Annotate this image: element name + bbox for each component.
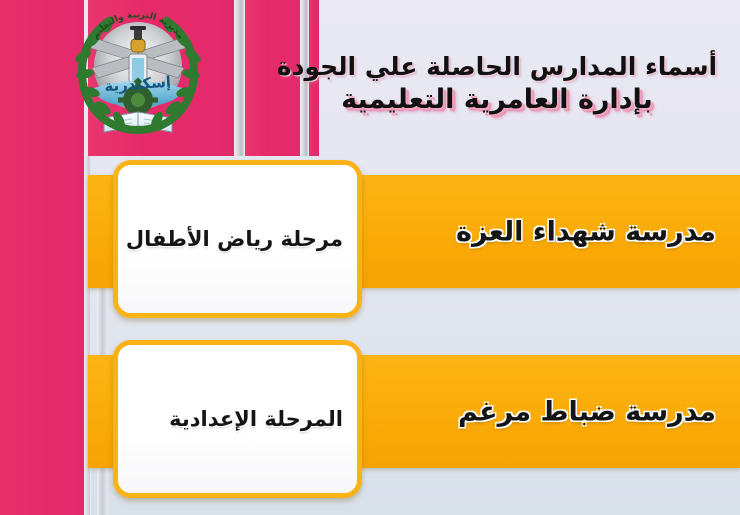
poster-canvas: مديرية التربية والتعليم إسكندرية أسماء ا…: [0, 0, 740, 515]
poster-title: أسماء المدارس الحاصلة علي الجودة بإدارة …: [272, 52, 722, 115]
stage-card-inner-2: المرحلة الإعدادية: [118, 345, 357, 493]
lower-separator-2: [97, 288, 108, 355]
stripe-separator-b: [234, 0, 245, 156]
title-line-2: بإدارة العامرية التعليمية: [272, 84, 722, 116]
school-name-2: مدرسة ضباط مرغم: [458, 396, 716, 427]
directorate-emblem-logo: مديرية التربية والتعليم إسكندرية: [58, 0, 218, 144]
stage-card-1: مرحلة رياض الأطفال: [113, 160, 362, 318]
stage-card-2: المرحلة الإعدادية: [113, 340, 362, 498]
stage-label-2: المرحلة الإعدادية: [169, 407, 343, 431]
stage-label-1: مرحلة رياض الأطفال: [126, 227, 343, 251]
stage-card-inner-1: مرحلة رياض الأطفال: [118, 165, 357, 313]
title-line-1: أسماء المدارس الحاصلة علي الجودة: [272, 52, 722, 82]
school-name-1: مدرسة شهداء العزة: [456, 216, 716, 247]
lower-separator-3: [97, 468, 108, 515]
